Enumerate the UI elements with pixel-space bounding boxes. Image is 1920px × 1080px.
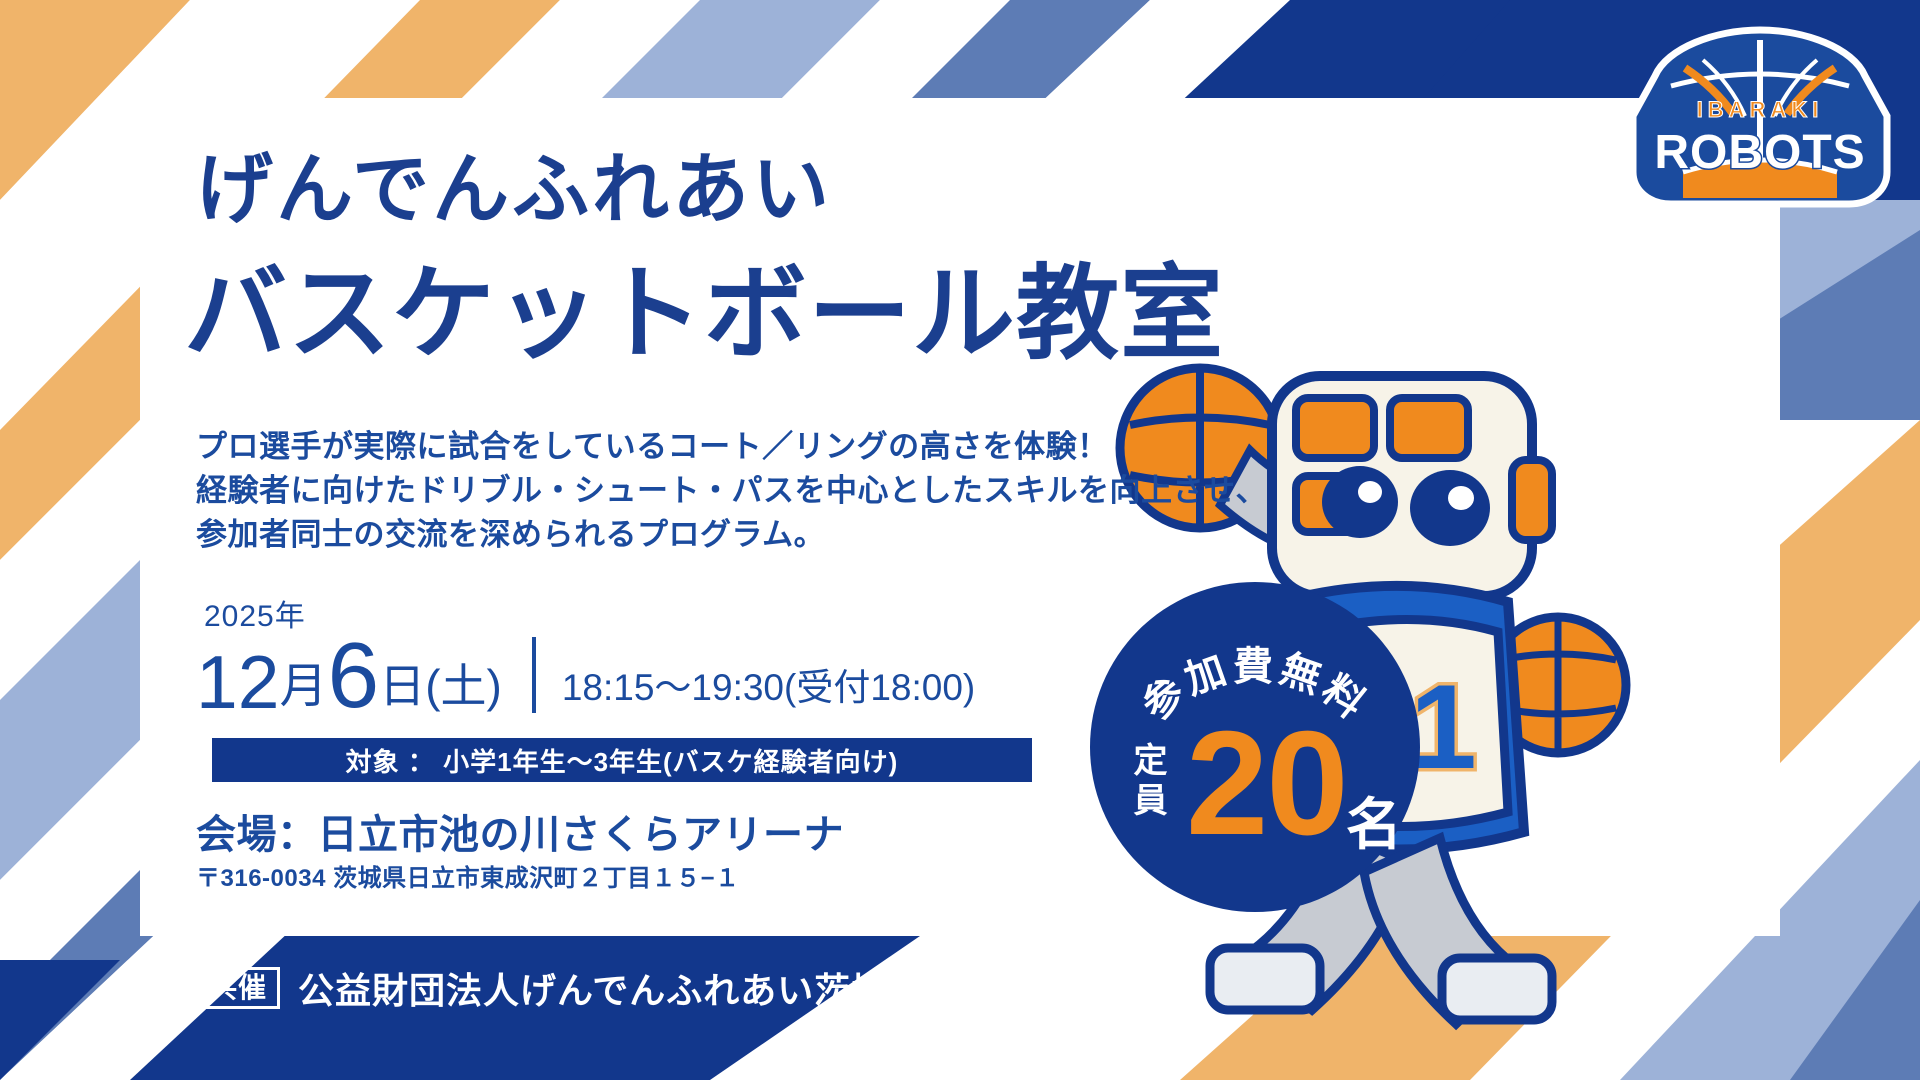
event-date-row: 12 月 6 日 (土) 18:15〜19:30(受付18:00)	[196, 635, 975, 717]
event-month-unit: 月	[279, 661, 327, 717]
title-line-1: げんでんふれあい	[196, 152, 832, 229]
description-line-2: 経験者に向けたドリブル・シュート・パスを中心としたスキルを向上させ、	[196, 469, 1267, 513]
event-day-unit: 日	[379, 660, 425, 717]
cohost-organization: 公益財団法人げんでんふれあい茨城財団	[298, 962, 962, 1014]
capacity-unit: 名	[1346, 797, 1402, 853]
event-month: 12	[196, 648, 279, 717]
venue-address: 〒316-0034 茨城県日立市東成沢町２丁目１５−１	[196, 858, 740, 893]
date-time-block: 2025年 12 月 6 日 (土) 18:15〜19:30(受付18:00)	[196, 602, 975, 717]
event-time: 18:15〜19:30(受付18:00)	[562, 668, 975, 717]
logo-top-text: IBARAKI	[1697, 97, 1824, 122]
capacity-number: 20	[1186, 710, 1347, 858]
event-day: 6	[327, 635, 379, 717]
title-line-2: バスケットボール教室	[184, 262, 1224, 365]
footer-row: 共催 公益財団法人げんでんふれあい茨城財団	[196, 962, 962, 1014]
target-audience-text: 対象 ： 小学1年生〜3年生(バスケ経験者向け)	[346, 742, 899, 779]
description-line-1: プロ選手が実際に試合をしているコート／リングの高さを体験！	[196, 425, 1267, 469]
description-line-3: 参加者同士の交流を深められるプログラム。	[196, 513, 1267, 557]
capacity-label: 定員	[1122, 742, 1168, 822]
ibaraki-robots-logo: IBARAKI ROBOTS	[1615, 22, 1905, 212]
target-audience-bar: 対象 ： 小学1年生〜3年生(バスケ経験者向け)	[212, 738, 1032, 782]
logo-main-text: ROBOTS	[1654, 126, 1865, 179]
date-time-divider	[532, 637, 536, 713]
venue-name: 会場：日立市池の川さくらアリーナ	[196, 802, 844, 860]
description-block: プロ選手が実際に試合をしているコート／リングの高さを体験！ 経験者に向けたドリブ…	[196, 425, 1267, 557]
event-year: 2025年	[204, 602, 975, 632]
fee-capacity-badge: 参加費無料 定員 20 名	[1090, 582, 1420, 912]
cohost-label: 共催	[196, 967, 280, 1010]
event-weekday: (土)	[425, 660, 502, 717]
